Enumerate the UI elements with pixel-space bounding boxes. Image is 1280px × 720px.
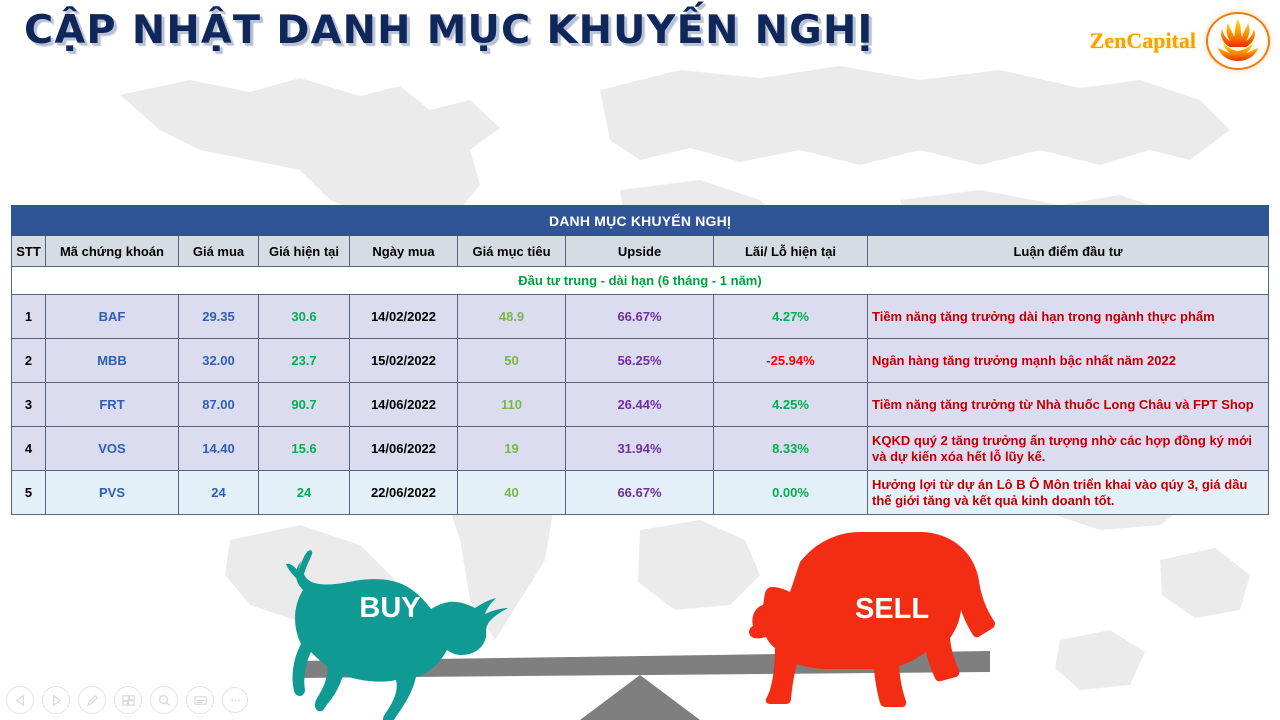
pen-icon[interactable] [78,686,106,714]
column-header-current-price: Giá hiện tại [259,236,350,267]
cell-pl: 4.25% [714,383,868,427]
column-header-upside: Upside [566,236,714,267]
table-row: 5 PVS 24 24 22/06/2022 40 66.67% 0.00% H… [12,471,1269,515]
cell-ticker: MBB [46,339,179,383]
previous-slide-icon[interactable] [6,686,34,714]
column-header-ticker: Mã chứng khoán [46,236,179,267]
seesaw-fulcrum [580,675,700,720]
buy-label: BUY [359,592,420,624]
cell-upside: 66.67% [566,471,714,515]
cell-target-price: 19 [458,427,566,471]
table-row: 3 FRT 87.00 90.7 14/06/2022 110 26.44% 4… [12,383,1269,427]
cell-target-price: 50 [458,339,566,383]
column-header-target-price: Giá mục tiêu [458,236,566,267]
column-header-pl: Lãi/ Lỗ hiện tại [714,236,868,267]
cell-upside: 66.67% [566,295,714,339]
cell-pl: 0.00% [714,471,868,515]
cell-stt: 3 [12,383,46,427]
presentation-toolbar[interactable] [6,686,248,714]
table-row: 1 BAF 29.35 30.6 14/02/2022 48.9 66.67% … [12,295,1269,339]
cell-pl: 8.33% [714,427,868,471]
table-row: 2 MBB 32.00 23.7 15/02/2022 50 56.25% -2… [12,339,1269,383]
cell-ticker: PVS [46,471,179,515]
cell-current-price: 15.6 [259,427,350,471]
table-caption: DANH MỤC KHUYẾN NGHỊ [12,206,1269,236]
cell-thesis: Hưởng lợi từ dự án Lô B Ô Môn triển khai… [868,471,1269,515]
more-options-icon[interactable] [222,687,248,713]
cell-ticker: BAF [46,295,179,339]
next-slide-icon[interactable] [42,686,70,714]
brand-logo-group: ZenCapital [1090,12,1270,70]
presentation-slide: CẬP NHẬT DANH MỤC KHUYẾN NGHỊ ZenCapital [0,0,1280,720]
cell-target-price: 40 [458,471,566,515]
cell-current-price: 23.7 [259,339,350,383]
slide-grid-icon[interactable] [114,686,142,714]
cell-buy-price: 24 [179,471,259,515]
cell-buy-date: 22/06/2022 [350,471,458,515]
cell-stt: 4 [12,427,46,471]
cell-current-price: 30.6 [259,295,350,339]
cell-upside: 31.94% [566,427,714,471]
cell-buy-date: 14/02/2022 [350,295,458,339]
column-header-thesis: Luận điểm đầu tư [868,236,1269,267]
sell-label: SELL [855,593,929,625]
table-header-row: STT Mã chứng khoán Giá mua Giá hiện tại … [12,236,1269,267]
cell-buy-price: 14.40 [179,427,259,471]
cell-thesis: Tiềm năng tăng trưởng dài hạn trong ngàn… [868,295,1269,339]
table-body: Đầu tư trung - dài hạn (6 tháng - 1 năm)… [12,267,1269,515]
bull-icon [286,550,508,720]
cell-thesis: Tiềm năng tăng trưởng từ Nhà thuốc Long … [868,383,1269,427]
cell-target-price: 48.9 [458,295,566,339]
cell-buy-price: 29.35 [179,295,259,339]
lotus-flame-icon [1206,12,1270,70]
page-title: CẬP NHẬT DANH MỤC KHUYẾN NGHỊ [24,8,874,53]
cell-stt: 1 [12,295,46,339]
cell-buy-date: 14/06/2022 [350,427,458,471]
cell-current-price: 24 [259,471,350,515]
cell-ticker: VOS [46,427,179,471]
cell-upside: 56.25% [566,339,714,383]
recommended-portfolio-table: DANH MỤC KHUYẾN NGHỊ STT Mã chứng khoán … [11,205,1269,515]
cell-buy-price: 87.00 [179,383,259,427]
section-label: Đầu tư trung - dài hạn (6 tháng - 1 năm) [12,267,1269,295]
cell-buy-date: 15/02/2022 [350,339,458,383]
cell-buy-date: 14/06/2022 [350,383,458,427]
column-header-buy-date: Ngày mua [350,236,458,267]
table-section-row: Đầu tư trung - dài hạn (6 tháng - 1 năm) [12,267,1269,295]
zoom-icon[interactable] [150,686,178,714]
cell-ticker: FRT [46,383,179,427]
cell-current-price: 90.7 [259,383,350,427]
column-header-buy-price: Giá mua [179,236,259,267]
cell-target-price: 110 [458,383,566,427]
table-row: 4 VOS 14.40 15.6 14/06/2022 19 31.94% 8.… [12,427,1269,471]
presenter-view-icon[interactable] [186,686,214,714]
cell-stt: 5 [12,471,46,515]
cell-thesis: Ngân hàng tăng trưởng mạnh bậc nhất năm … [868,339,1269,383]
column-header-stt: STT [12,236,46,267]
cell-buy-price: 32.00 [179,339,259,383]
cell-stt: 2 [12,339,46,383]
cell-thesis: KQKD quý 2 tăng trưởng ấn tượng nhờ các … [868,427,1269,471]
cell-upside: 26.44% [566,383,714,427]
cell-pl: 4.27% [714,295,868,339]
brand-name: ZenCapital [1090,28,1196,54]
cell-pl: -25.94% [714,339,868,383]
